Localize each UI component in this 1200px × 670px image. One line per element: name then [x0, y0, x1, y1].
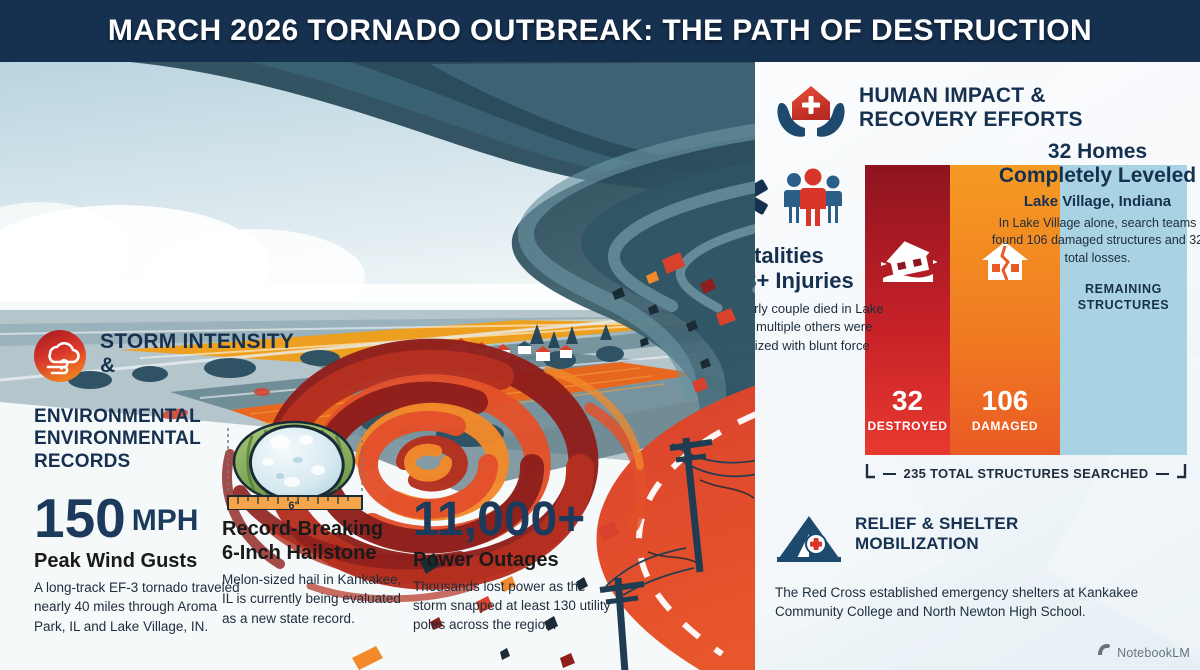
human-impact-header: HUMAN IMPACT & RECOVERY EFFORTS [775, 84, 1195, 145]
casualties-body: An elderly couple died in Lake Village; … [755, 300, 910, 374]
homes-leveled-block: 32 Homes Completely Leveled Lake Village… [990, 140, 1200, 267]
hands-holding-home-icon [775, 84, 847, 145]
wind-value: 150 [34, 492, 126, 544]
damaged-value: 106 [982, 387, 1029, 415]
hailstone-illustration: 6" [222, 420, 397, 510]
people-group-icon [782, 168, 844, 231]
stat-record-hailstone: Record-Breaking 6-Inch Hailstone Melon-s… [222, 512, 402, 628]
casualties-block: 2 Fatalities & 18+ Injuries An elderly c… [755, 167, 910, 373]
page-title: MARCH 2026 TORNADO OUTBREAK: THE PATH OF… [0, 0, 1200, 62]
human-impact-title: HUMAN IMPACT & RECOVERY EFFORTS [859, 84, 1083, 132]
chart-total-label: 235 TOTAL STRUCTURES SEARCHED [904, 466, 1149, 481]
homes-title: 32 Homes Completely Leveled [990, 140, 1200, 189]
wind-label: Peak Wind Gusts [34, 550, 244, 573]
power-value: 11,000+ [413, 497, 613, 543]
ruler-label: 6" [288, 500, 299, 510]
storm-intensity-title: STORM INTENSITY & [100, 330, 294, 379]
header-bar: MARCH 2026 TORNADO OUTBREAK: THE PATH OF… [0, 0, 1200, 62]
casualties-headline: 2 Fatalities & 18+ Injuries [755, 243, 910, 294]
hail-body: Melon-sized hail in Kankakee, IL is curr… [222, 570, 402, 627]
homes-body: In Lake Village alone, search teams foun… [990, 215, 1200, 268]
bracket-line-left [883, 473, 896, 475]
wind-body: A long-track EF-3 tornado traveled nearl… [34, 578, 244, 635]
relief-header: RELIEF & SHELTER MOBILIZATION [775, 514, 1185, 569]
storm-intensity-header: STORM INTENSITY & [34, 330, 294, 387]
stat-power-outages: 11,000+ Power Outages Thousands lost pow… [413, 497, 613, 634]
human-impact-title-line1: HUMAN IMPACT & [859, 84, 1046, 107]
infographic-canvas: MARCH 2026 TORNADO OUTBREAK: THE PATH OF… [0, 0, 1200, 670]
damaged-label: DAMAGED [972, 419, 1038, 433]
storm-cloud-wind-icon [34, 330, 86, 387]
casualties-line1: 2 Fatalities [755, 243, 824, 268]
bracket-right-icon [1177, 463, 1187, 484]
human-impact-title-line2: RECOVERY EFFORTS [859, 108, 1083, 131]
human-impact-panel: HUMAN IMPACT & RECOVERY EFFORTS [755, 62, 1200, 670]
hail-label: Record-Breaking 6-Inch Hailstone [222, 518, 402, 565]
remaining-label: REMAINING STRUCTURES [1060, 281, 1187, 314]
power-label: Power Outages [413, 549, 613, 572]
chart-total-bracket: 235 TOTAL STRUCTURES SEARCHED [865, 463, 1187, 484]
bracket-line-right [1156, 473, 1169, 475]
relief-shelter-block: RELIEF & SHELTER MOBILIZATION The Red Cr… [775, 514, 1185, 621]
relief-title-line1: RELIEF & SHELTER [855, 514, 1018, 533]
watermark-text: NotebookLM [1117, 646, 1190, 660]
stat-peak-wind-gusts: 150MPH Peak Wind Gusts A long-track EF-3… [34, 492, 244, 636]
destroyed-label: DESTROYED [867, 419, 947, 433]
bracket-left-icon [865, 463, 875, 484]
casualties-line2: & 18+ Injuries [755, 268, 854, 293]
relief-title-line2: MOBILIZATION [855, 534, 979, 553]
casualties-icons [755, 167, 910, 231]
star-of-life-icon [755, 168, 772, 231]
relief-body: The Red Cross established emergency shel… [775, 583, 1185, 621]
destroyed-value: 32 [892, 387, 923, 415]
power-body: Thousands lost power as the storm snappe… [413, 577, 613, 634]
notebooklm-icon [1096, 643, 1112, 662]
shelter-tent-red-cross-icon [775, 514, 843, 569]
relief-title: RELIEF & SHELTER MOBILIZATION [855, 514, 1018, 554]
watermark: NotebookLM [1096, 643, 1190, 662]
wind-unit: MPH [132, 504, 199, 538]
homes-subtitle: Lake Village, Indiana [990, 193, 1200, 210]
